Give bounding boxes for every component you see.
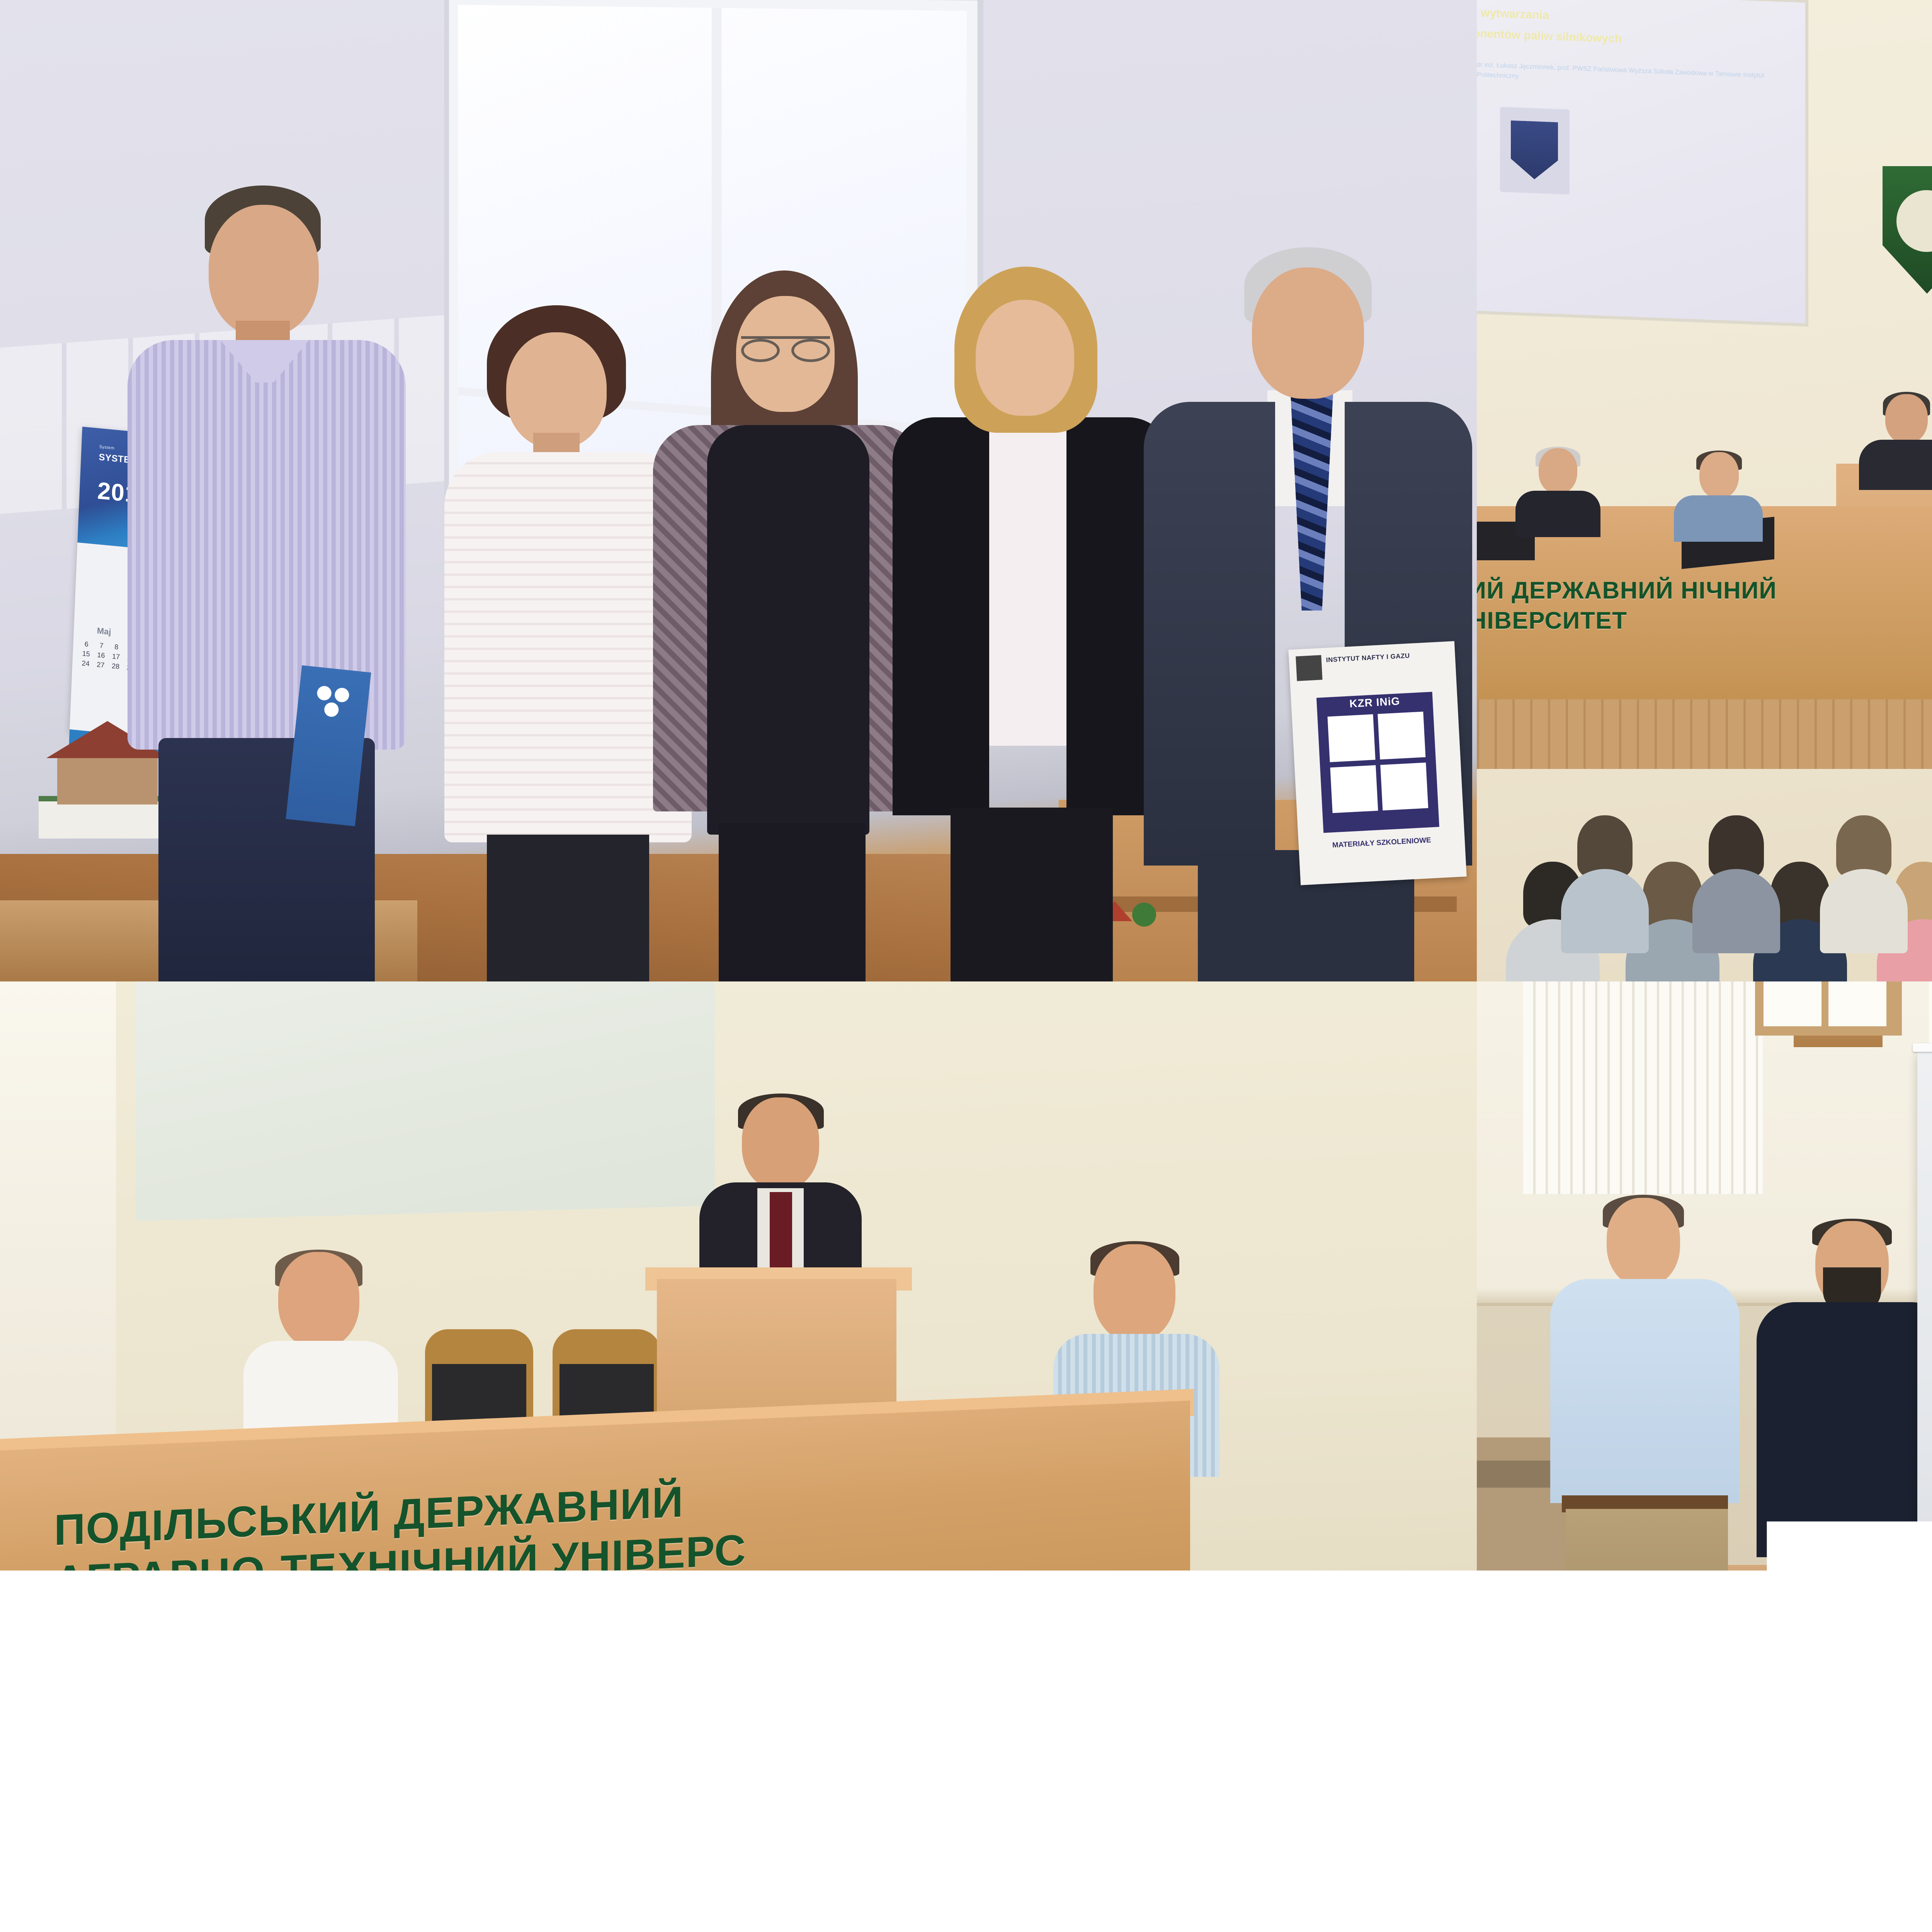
collage-page: System SYSTEM KZR INiG 2019 Maj 67891013…	[0, 0, 1932, 1932]
audience-shoulders	[1561, 869, 1649, 953]
head	[1252, 267, 1364, 399]
leaflet-graphic	[313, 682, 352, 721]
head	[278, 1252, 359, 1349]
body	[1515, 491, 1600, 537]
blazer-left	[893, 417, 989, 815]
caption-line-1: Заходи за програмою Європейського Союзу …	[23, 1726, 1932, 1792]
booklet-institute: INSTYTUT NAFTY I GAZU	[1326, 652, 1410, 664]
booklet-subtitle: MATERIAŁY SZKOLENIOWE	[1299, 834, 1465, 852]
notice-paper	[1828, 981, 1886, 1026]
suit-left	[1144, 402, 1275, 866]
calendar-day: 15	[79, 649, 94, 658]
head	[209, 205, 319, 336]
caption-line-2: молоді та спорту Erasmus+ за участю пред…	[23, 1792, 1932, 1859]
legs	[951, 808, 1113, 981]
training-booklet: INSTYTUT NAFTY I GAZU KZR INiG MATERIAŁY…	[1288, 641, 1466, 885]
presidium-photo: ПОДІЛЬСЬКИЙ ДЕРЖАВНИЙ АГРАРНО-ТЕХНІЧНИЙ …	[0, 981, 1477, 1712]
calendar-day: 6	[79, 639, 94, 649]
legs	[487, 835, 649, 981]
calendar-day: 24	[78, 659, 93, 668]
person-man-grey-suit: INSTYTUT NAFTY I GAZU KZR INiG MATERIAŁY…	[1128, 247, 1476, 981]
slide-line-1: wytwarzania	[1481, 7, 1549, 22]
slide-emblem	[1500, 107, 1570, 195]
kzr-inig-rollup-banner: System Certyfikacji ZRÓWNOWAŻONY ROZWÓJ …	[1917, 1051, 1932, 1708]
necktie	[1291, 394, 1333, 611]
person-man-blue-shirt	[1539, 1198, 1755, 1712]
projection-screen: wytwarzania onentów paliw silnikowych dr…	[1477, 0, 1805, 323]
calendar-day: 16	[94, 651, 109, 660]
booklet-mark-graphic	[1328, 712, 1429, 813]
slide-emblem-shield	[1511, 121, 1558, 180]
trousers	[1566, 1509, 1728, 1712]
caption-line-3: Тарнові (Тарнов, Польща) та Інституту На…	[23, 1858, 1932, 1925]
banner-url: www.kzr.inig.eu	[1917, 1471, 1932, 1495]
lecture-hall-photo: wytwarzania onentów paliw silnikowych dr…	[1477, 0, 1932, 981]
head	[742, 1097, 819, 1190]
projection-screen	[135, 981, 715, 1221]
person-man-black-shirt	[1747, 1221, 1932, 1712]
head	[1699, 452, 1739, 498]
audience-head	[1577, 815, 1633, 877]
head	[1885, 394, 1928, 444]
vest	[707, 425, 869, 835]
vertical-blinds	[1523, 981, 1763, 1194]
person-seated-middle	[1674, 452, 1763, 529]
presidium-sign: КИЙ ДЕРЖАВНИЙ НІЧНИЙ УНІВЕРСИТЕТ	[1477, 576, 1932, 636]
crest-inner	[1896, 190, 1932, 252]
head	[506, 332, 607, 448]
three-men-with-banner-photo: System Certyfikacji ZRÓWNOWAŻONY ROZWÓJ …	[1477, 981, 1932, 1712]
booklet-kzr-mark: KZR INiG	[1316, 692, 1439, 833]
banner-cap	[1913, 1043, 1932, 1052]
head	[976, 300, 1074, 416]
slide-author: dr inż. Łukasz Jęczmionek, prof. PWSZ Pa…	[1477, 60, 1805, 92]
group-photo-five-people: System SYSTEM KZR INiG 2019 Maj 67891013…	[0, 0, 1477, 981]
head	[1607, 1198, 1680, 1287]
person-presenter	[1857, 394, 1932, 483]
slide-line-2: onentów paliw silnikowych	[1477, 27, 1622, 46]
audience-shoulders	[1820, 869, 1908, 953]
head	[1094, 1244, 1175, 1342]
head	[1539, 448, 1577, 494]
body	[1674, 495, 1763, 542]
caption-banner: Заходи за програмою Європейського Союзу …	[0, 1708, 1932, 1932]
audience-head	[1836, 815, 1891, 877]
shirt	[1757, 1302, 1932, 1557]
body	[1859, 440, 1932, 490]
calendar-day: 27	[94, 660, 108, 670]
booklet-kzr-title: KZR INiG	[1316, 693, 1433, 712]
audience-head	[1709, 815, 1764, 877]
erasmus-label: Erasmus+	[602, 1638, 774, 1681]
legs	[719, 823, 866, 981]
notice-paper	[1764, 981, 1821, 1026]
calendar-month: Maj	[97, 626, 111, 637]
person-woman-dark-vest	[653, 270, 923, 981]
person-man-striped-shirt	[112, 185, 421, 981]
shirt	[1550, 1279, 1740, 1503]
calendar-day: 7	[94, 641, 109, 650]
wood-panelling	[1477, 699, 1932, 769]
glasses-icon	[741, 336, 830, 357]
notice-board	[1755, 981, 1902, 1036]
trousers	[1773, 1561, 1932, 1712]
person-seated-left	[1515, 448, 1600, 526]
booklet-logo	[1296, 655, 1322, 681]
audience-shoulders	[1692, 869, 1780, 953]
erasmus-label-bar: Erasmus+	[0, 1611, 1376, 1708]
